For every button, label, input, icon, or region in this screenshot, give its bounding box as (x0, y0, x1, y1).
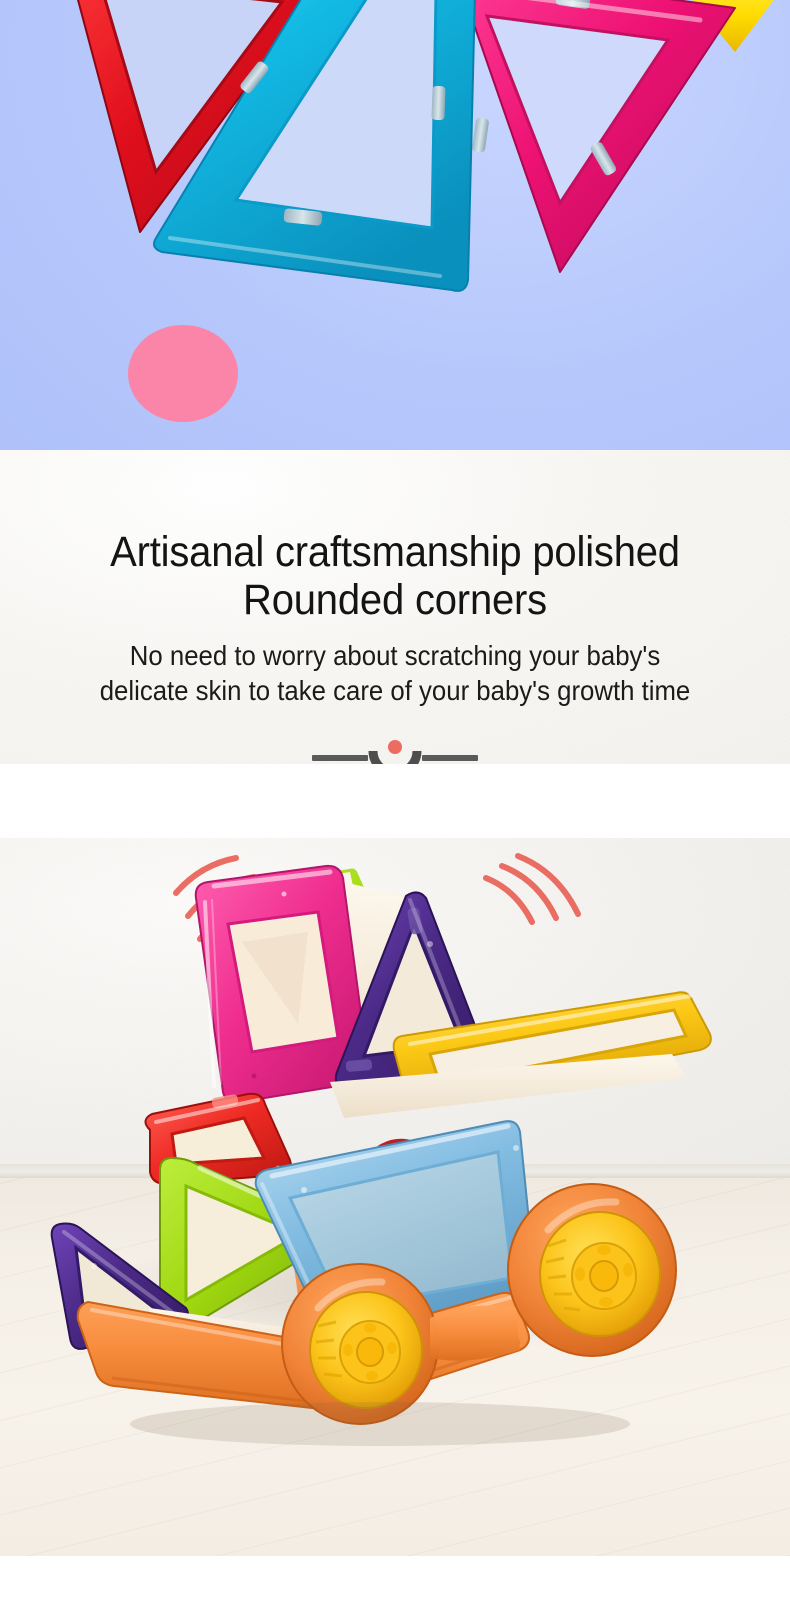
divider-dot (388, 740, 402, 754)
subhead-line-1: No need to worry about scratching your b… (130, 640, 660, 671)
copy-section: Artisanal craftsmanship polished Rounded… (0, 450, 790, 764)
hero-image-section (0, 0, 790, 450)
pink-triangle-tile (455, 0, 735, 272)
divider-dash-right (422, 755, 478, 761)
product-detail-page: Artisanal craftsmanship polished Rounded… (0, 0, 790, 1556)
wheel-front (282, 1264, 438, 1424)
headline-line-1: Artisanal craftsmanship polished (110, 528, 680, 576)
product-photo-section (0, 838, 790, 1556)
divider-dash-left (312, 755, 368, 761)
section-headline: Artisanal craftsmanship polished Rounded… (28, 528, 763, 624)
wheel-rear (508, 1184, 676, 1356)
pink-accent-dot (128, 325, 238, 422)
headline-line-2: Rounded corners (28, 576, 763, 624)
subhead-line-2: delicate skin to take care of your baby'… (100, 675, 691, 706)
motion-lines-right (486, 856, 578, 922)
orange-axle-apron (430, 1306, 520, 1361)
section-subheadline: No need to worry about scratching your b… (32, 638, 759, 708)
hero-tiles-stage (0, 0, 790, 450)
magnetic-tile-truck (0, 838, 790, 1556)
divider-glyph (300, 734, 490, 764)
contact-shadow (130, 1402, 630, 1446)
truck-illustration (0, 838, 790, 1556)
hero-tiles-illustration (0, 0, 790, 450)
decorative-divider (300, 734, 490, 764)
